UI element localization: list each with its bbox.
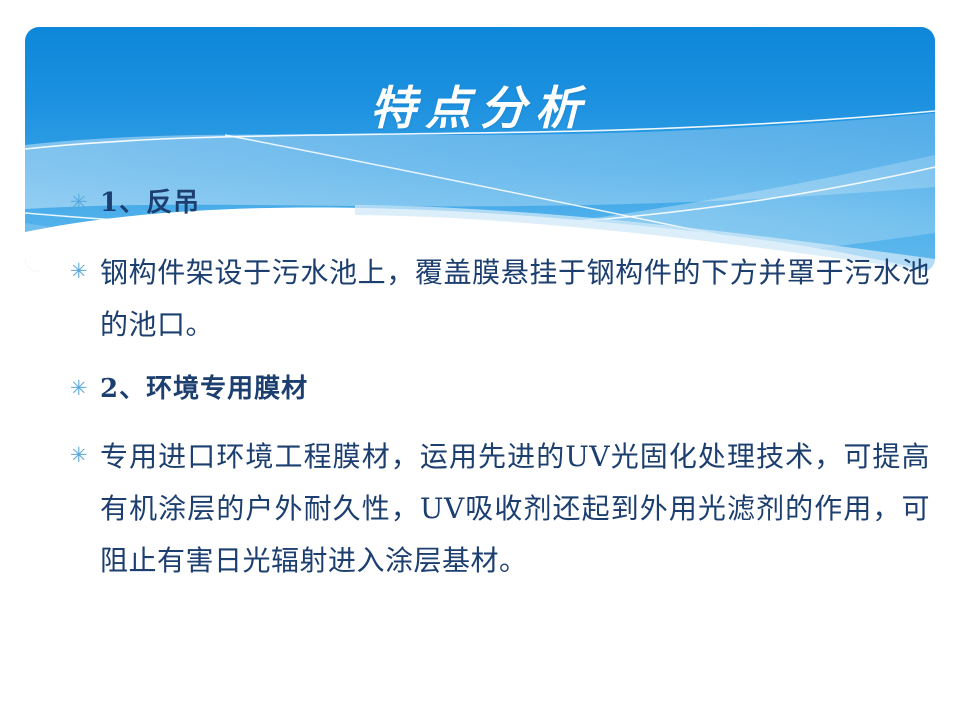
bullet-item-2: ✳ 钢构件架设于污水池上，覆盖膜悬挂于钢构件的下方并罩于污水池的池口。 [70, 247, 930, 351]
asterisk-bullet-icon: ✳ [70, 247, 100, 282]
slide-body: ✳ 1、反吊 ✳ 钢构件架设于污水池上，覆盖膜悬挂于钢构件的下方并罩于污水池的池… [70, 183, 930, 591]
bullet-text: 专用进口环境工程膜材，运用先进的UV光固化处理技术，可提高有机涂层的户外耐久性，… [100, 431, 930, 587]
slide-title: 特点分析 [25, 78, 935, 138]
bullet-text: 1、反吊 [100, 183, 930, 223]
asterisk-bullet-icon: ✳ [70, 369, 100, 399]
asterisk-bullet-icon: ✳ [70, 431, 100, 466]
bullet-item-3: ✳ 2、环境专用膜材 [70, 369, 930, 409]
bullet-item-4: ✳ 专用进口环境工程膜材，运用先进的UV光固化处理技术，可提高有机涂层的户外耐久… [70, 431, 930, 587]
asterisk-bullet-icon: ✳ [70, 183, 100, 213]
bullet-item-1: ✳ 1、反吊 [70, 183, 930, 223]
bullet-text: 钢构件架设于污水池上，覆盖膜悬挂于钢构件的下方并罩于污水池的池口。 [100, 247, 930, 351]
bullet-text: 2、环境专用膜材 [100, 369, 930, 409]
slide-canvas: 特点分析 ✳ 1、反吊 ✳ 钢构件架设于污水池上，覆盖膜悬挂于钢构件的下方并罩于… [0, 0, 960, 720]
